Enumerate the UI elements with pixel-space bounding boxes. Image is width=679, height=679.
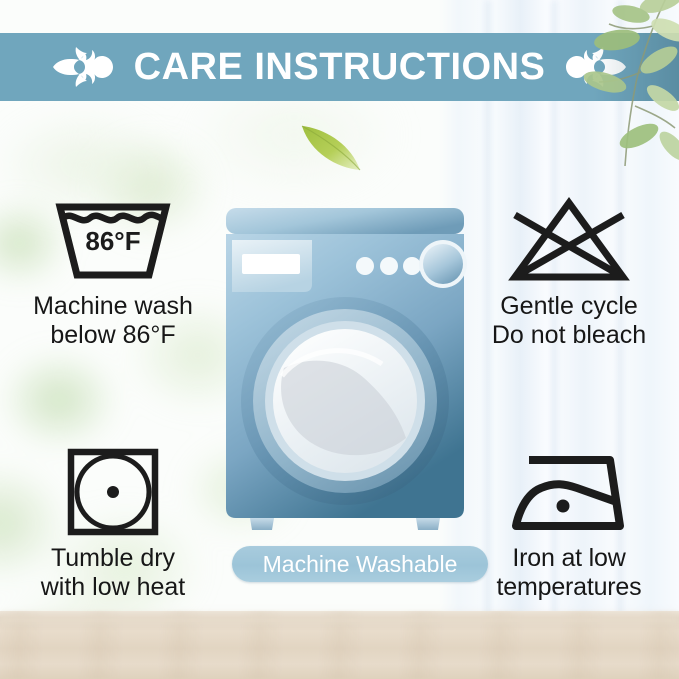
washer-lid <box>226 208 464 234</box>
wood-table-edge <box>0 609 679 623</box>
iron-icon <box>464 444 674 540</box>
wash-temperature-value: 86°F <box>85 226 140 256</box>
care-symbol-label: Tumble dry with low heat <box>8 544 218 602</box>
care-symbol-label: Gentle cycle Do not bleach <box>464 292 674 350</box>
indicator-dot <box>403 257 421 275</box>
washing-machine-illustration <box>222 206 468 536</box>
header-banner: CARE INSTRUCTIONS <box>0 33 679 101</box>
washer-foot <box>250 518 274 530</box>
care-symbol-label: Iron at low temperatures <box>464 544 674 602</box>
care-symbol-iron: Iron at low temperatures <box>464 444 674 602</box>
fleur-de-lis-icon <box>563 44 629 90</box>
care-symbol-tumble-dry: Tumble dry with low heat <box>8 444 218 602</box>
status-badge: Machine Washable <box>232 546 488 582</box>
care-symbol-label: Machine wash below 86°F <box>8 292 218 350</box>
page-title: CARE INSTRUCTIONS <box>134 48 546 86</box>
care-symbol-machine-wash: 86°F Machine wash below 86°F <box>8 192 218 350</box>
detergent-drawer-slot <box>242 254 300 274</box>
fleur-de-lis-icon <box>50 44 116 90</box>
control-dial <box>423 244 463 284</box>
washer-foot <box>416 518 440 530</box>
care-instructions-page: CARE INSTRUCTIONS <box>0 0 679 679</box>
triangle-crossed-icon <box>464 192 674 288</box>
leaf-icon <box>296 116 366 178</box>
indicator-dot <box>380 257 398 275</box>
status-badge-label: Machine Washable <box>263 553 458 576</box>
wash-tub-icon: 86°F <box>8 192 218 288</box>
care-symbol-gentle-cycle-no-bleach: Gentle cycle Do not bleach <box>464 192 674 350</box>
tumble-dry-icon <box>8 444 218 540</box>
indicator-dot <box>356 257 374 275</box>
